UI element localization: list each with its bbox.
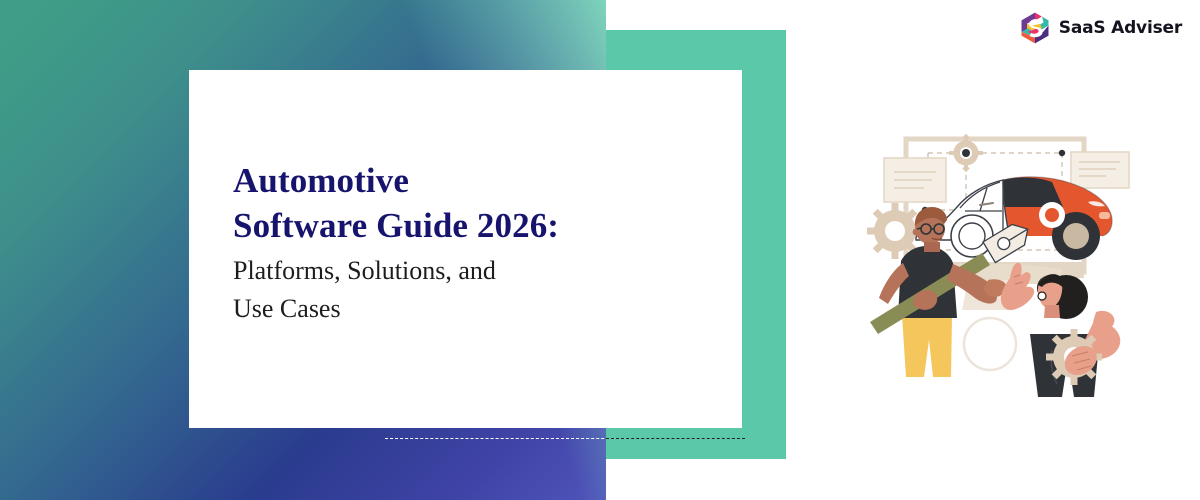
banner-root: Automotive Software Guide 2026: Platform… <box>0 0 1200 500</box>
brand-logo[interactable]: SaaS Adviser <box>1020 12 1182 44</box>
brand-name: SaaS Adviser <box>1059 18 1182 38</box>
automotive-design-team-illustration <box>862 112 1152 397</box>
page-subtitle: Platforms, Solutions, and Use Cases <box>233 252 703 328</box>
page-title: Automotive Software Guide 2026: <box>233 158 703 248</box>
dashed-divider-dark <box>606 438 745 439</box>
headline-block: Automotive Software Guide 2026: Platform… <box>233 158 703 328</box>
saas-adviser-hexagon-s-logo-icon <box>1020 12 1050 44</box>
